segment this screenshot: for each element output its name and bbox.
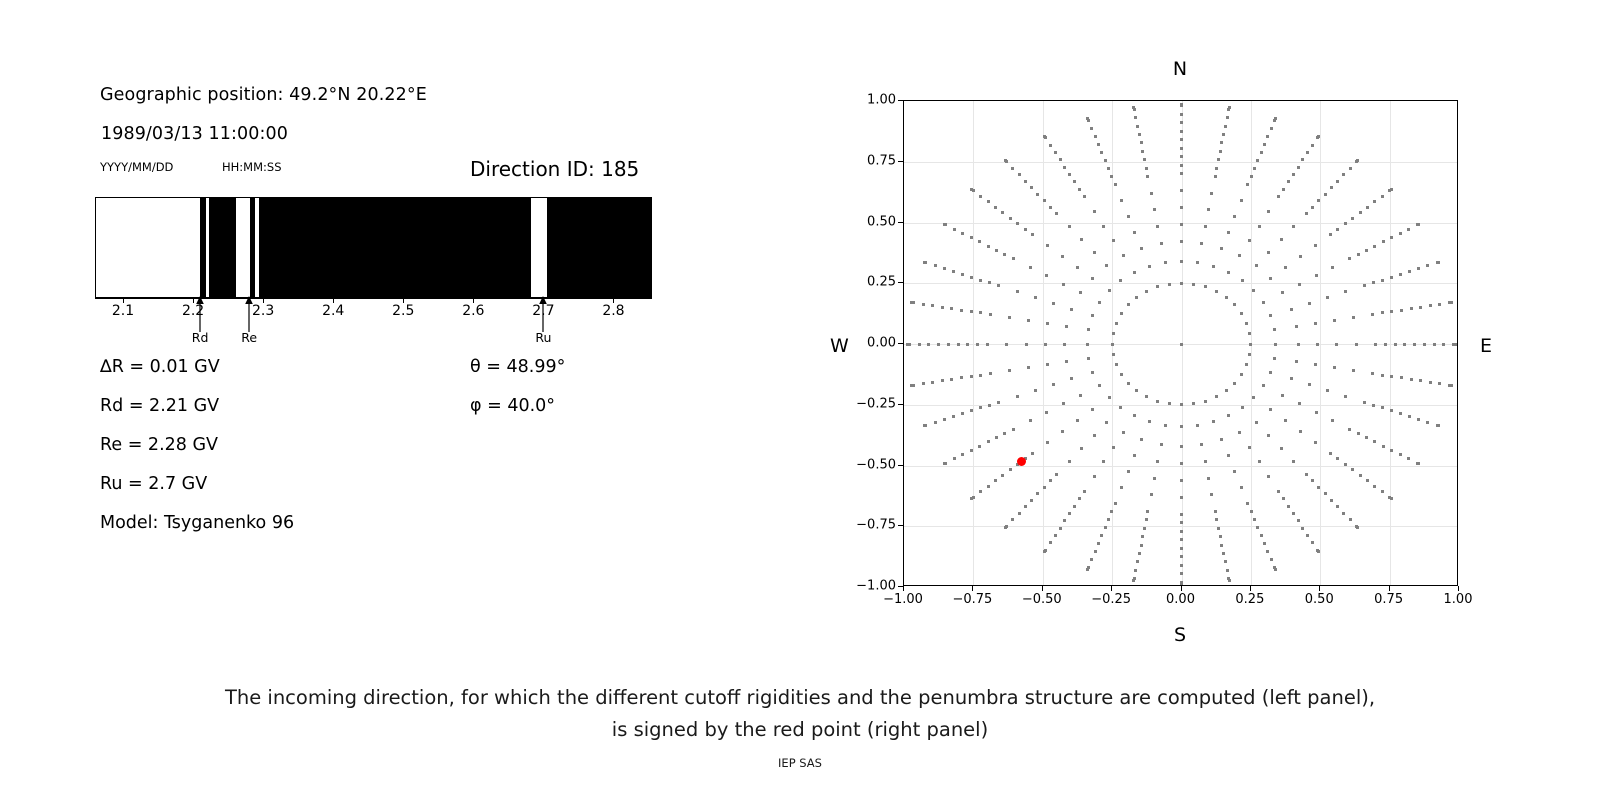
sky-direction-dot <box>1068 512 1071 515</box>
sky-direction-dot <box>1238 431 1241 434</box>
sky-direction-dot <box>1308 383 1311 386</box>
sky-direction-dot <box>1336 505 1339 508</box>
sky-direction-dot <box>1267 251 1270 254</box>
sky-direction-dot <box>1248 353 1251 356</box>
sky-direction-dot <box>1180 555 1183 558</box>
sky-direction-dot <box>1287 505 1290 508</box>
sky-direction-dot <box>1059 527 1062 530</box>
sky-direction-dot <box>988 404 991 407</box>
sky-direction-dot <box>1314 363 1317 366</box>
sky-direction-dot <box>1086 568 1089 571</box>
sky-direction-dot <box>1240 373 1243 376</box>
sky-direction-dot <box>1226 116 1229 119</box>
sky-direction-dot <box>1145 518 1148 521</box>
sky-direction-dot <box>1133 231 1136 234</box>
sky-direction-dot <box>961 453 964 456</box>
sky-direction-dot <box>1049 541 1052 544</box>
sky-direction-dot <box>961 232 964 235</box>
result-delta-r: ∆R = 0.01 GV <box>100 357 220 377</box>
sky-direction-dot <box>1150 493 1153 496</box>
datetime-text: 1989/03/13 11:00:00 <box>101 124 288 144</box>
sky-direction-dot <box>1146 510 1149 513</box>
sky-direction-dot <box>1215 395 1218 398</box>
sky-direction-dot <box>1297 343 1300 346</box>
sky-direction-dot <box>957 343 960 346</box>
sky-direction-dot <box>1262 301 1265 304</box>
sky-direction-dot <box>1315 274 1318 277</box>
sky-direction-dot <box>1274 117 1277 120</box>
sky-direction-dot <box>1094 550 1097 553</box>
sky-direction-dot <box>979 195 982 198</box>
sky-x-tick-label: −1.00 <box>883 592 923 607</box>
sky-direction-dot <box>1324 193 1327 196</box>
sky-direction-dot <box>1390 310 1393 313</box>
sky-direction-dot <box>1078 497 1081 500</box>
sky-direction-dot <box>1390 236 1393 239</box>
sky-direction-dot <box>1326 389 1329 392</box>
sky-direction-dot <box>1373 200 1376 203</box>
sky-direction-dot <box>1061 430 1064 433</box>
sky-direction-dot <box>1363 401 1366 404</box>
sky-direction-dot <box>1003 432 1006 435</box>
sky-direction-dot <box>1292 512 1295 515</box>
sky-direction-dot <box>1298 402 1301 405</box>
sky-y-tick <box>898 222 903 223</box>
penumbra-marker-label-ru: Ru <box>535 330 551 345</box>
credit-label: IEP SAS <box>0 756 1600 770</box>
sky-direction-dot <box>1317 199 1320 202</box>
sky-direction-dot <box>1390 497 1393 500</box>
sky-x-tick <box>1250 586 1251 591</box>
sky-direction-dot <box>1122 254 1125 257</box>
sky-direction-dot <box>1342 173 1345 176</box>
sky-direction-dot <box>1049 206 1052 209</box>
sky-direction-dot <box>1156 285 1159 288</box>
sky-direction-dot <box>1212 420 1215 423</box>
sky-direction-dot <box>1012 428 1015 431</box>
sky-direction-dot <box>1352 316 1355 319</box>
sky-direction-dot <box>997 401 1000 404</box>
sky-direction-dot <box>987 440 990 443</box>
sky-direction-dot <box>1107 518 1110 521</box>
sky-direction-dot <box>1145 167 1148 170</box>
sky-direction-dot <box>1227 414 1230 417</box>
sky-direction-dot <box>1280 238 1283 241</box>
sky-direction-dot <box>1080 238 1083 241</box>
sky-direction-dot <box>1043 199 1046 202</box>
sky-direction-dot <box>1269 314 1272 317</box>
sky-direction-dot <box>1269 371 1272 374</box>
sky-direction-dot <box>1133 414 1136 417</box>
sky-direction-dot <box>1180 206 1183 209</box>
sky-direction-dot <box>1031 233 1034 236</box>
sky-direction-dot <box>1273 357 1276 360</box>
sky-direction-dot <box>1220 438 1223 441</box>
sky-direction-dot <box>1270 558 1273 561</box>
sky-direction-dot <box>1059 158 1062 161</box>
angle-phi: φ = 40.0° <box>470 396 555 416</box>
sky-direction-dot <box>1133 271 1136 274</box>
sky-direction-dot <box>1180 282 1183 285</box>
sky-direction-dot <box>1336 180 1339 183</box>
sky-direction-dot <box>1091 277 1094 280</box>
sky-direction-dot <box>1063 519 1066 522</box>
sky-direction-dot <box>1255 264 1258 267</box>
sky-direction-dot <box>1267 475 1270 478</box>
result-rd: Rd = 2.21 GV <box>100 396 219 416</box>
sky-direction-dot <box>943 223 946 226</box>
sky-direction-dot <box>1135 389 1138 392</box>
sky-direction-dot <box>987 245 990 248</box>
sky-direction-dot <box>1138 552 1141 555</box>
sky-direction-dot <box>979 374 982 377</box>
sky-direction-dot <box>1145 290 1148 293</box>
sky-direction-dot <box>943 267 946 270</box>
sky-direction-dot <box>1233 470 1236 473</box>
sky-direction-dot <box>1351 468 1354 471</box>
sky-direction-dot <box>934 264 937 267</box>
sky-direction-dot <box>1180 130 1183 133</box>
sky-direction-dot <box>922 303 925 306</box>
sky-direction-dot <box>988 281 991 284</box>
sky-direction-dot <box>1442 343 1445 346</box>
sky-direction-dot <box>1093 475 1096 478</box>
sky-direction-dot <box>1373 245 1376 248</box>
penumbra-axis-tick-label: 2.8 <box>602 303 624 319</box>
sky-direction-dot <box>1292 225 1295 228</box>
sky-direction-dot <box>1180 147 1183 150</box>
sky-direction-dot <box>1207 208 1210 211</box>
sky-direction-dot <box>1108 396 1111 399</box>
sky-gridline-horizontal <box>904 466 1457 467</box>
sky-direction-dot <box>1204 225 1207 228</box>
sky-direction-dot <box>1219 150 1222 153</box>
sky-direction-dot <box>1381 406 1384 409</box>
sky-direction-dot <box>1091 371 1094 374</box>
sky-y-tick-label: 0.00 <box>867 336 896 351</box>
sky-direction-dot <box>1381 311 1384 314</box>
sky-direction-dot <box>1357 253 1360 256</box>
sky-direction-dot <box>1253 518 1256 521</box>
sky-direction-dot <box>1180 513 1183 516</box>
sky-direction-dot <box>960 309 963 312</box>
sky-direction-dot <box>1068 173 1071 176</box>
sky-direction-dot <box>1417 462 1420 465</box>
sky-direction-dot <box>1112 332 1115 335</box>
sky-direction-dot <box>937 343 940 346</box>
sky-direction-dot <box>1122 431 1125 434</box>
sky-direction-dot <box>1417 267 1420 270</box>
sky-direction-dot <box>1400 309 1403 312</box>
sky-direction-dot <box>1253 167 1256 170</box>
sky-direction-dot <box>952 270 955 273</box>
sky-direction-dot <box>961 273 964 276</box>
sky-direction-dot <box>995 436 998 439</box>
sky-direction-dot <box>1133 454 1136 457</box>
sky-direction-dot <box>1045 411 1048 414</box>
sky-direction-dot <box>1156 460 1159 463</box>
sky-direction-dot <box>1090 558 1093 561</box>
sky-direction-dot <box>950 307 953 310</box>
penumbra-axis-tick-label: 2.3 <box>252 303 274 319</box>
sky-direction-dot <box>1079 394 1082 397</box>
penumbra-axis-tick-label: 2.2 <box>182 303 204 319</box>
sky-direction-dot <box>979 279 982 282</box>
sky-direction-dot <box>941 306 944 309</box>
sky-direction-dot <box>1145 395 1148 398</box>
penumbra-axis-line <box>95 298 652 299</box>
sky-direction-dot <box>1282 188 1285 191</box>
sky-direction-dot <box>1344 222 1347 225</box>
sky-direction-dot <box>1317 550 1320 553</box>
sky-direction-dot <box>970 276 973 279</box>
sky-direction-dot <box>960 376 963 379</box>
sky-direction-dot <box>1248 239 1251 242</box>
sky-direction-dot <box>953 228 956 231</box>
sky-direction-dot <box>1105 421 1108 424</box>
sky-direction-dot <box>1450 384 1453 387</box>
sky-direction-dot <box>1196 261 1199 264</box>
sky-direction-dot <box>1180 521 1183 524</box>
sky-direction-dot <box>931 381 934 384</box>
sky-direction-dot <box>1281 291 1284 294</box>
sky-direction-dot <box>1141 535 1144 538</box>
sky-direction-dot <box>943 418 946 421</box>
direction-id-label: Direction ID: 185 <box>470 157 639 181</box>
sky-plot-area[interactable] <box>903 100 1458 586</box>
sky-direction-dot <box>1180 479 1183 482</box>
sky-direction-dot <box>1220 247 1223 250</box>
sky-direction-dot <box>1052 302 1055 305</box>
sky-direction-dot <box>1093 434 1096 437</box>
sky-direction-dot <box>1359 211 1362 214</box>
sky-direction-dot <box>1087 328 1090 331</box>
sky-direction-dot <box>1079 291 1082 294</box>
sky-direction-dot <box>1076 419 1079 422</box>
time-format-hint: HH:MM:SS <box>222 160 282 174</box>
sky-direction-dot <box>1222 133 1225 136</box>
sky-direction-dot <box>1454 343 1457 346</box>
sky-direction-dot <box>1373 485 1376 488</box>
sky-direction-dot <box>1329 233 1332 236</box>
penumbra-forbidden-band <box>259 198 531 297</box>
sky-direction-dot <box>1363 284 1366 287</box>
sky-direction-dot <box>1100 534 1103 537</box>
sky-direction-dot <box>994 479 997 482</box>
sky-direction-dot <box>1292 173 1295 176</box>
sky-direction-dot <box>1240 486 1243 489</box>
sky-direction-dot <box>976 343 979 346</box>
sky-direction-dot <box>1281 394 1284 397</box>
sky-direction-dot <box>970 236 973 239</box>
sky-direction-dot <box>1027 366 1030 369</box>
sky-direction-dot <box>1250 175 1253 178</box>
sky-y-tick <box>898 161 903 162</box>
sky-direction-dot <box>1215 167 1218 170</box>
sky-direction-dot <box>1138 133 1141 136</box>
sky-gridline-horizontal <box>904 526 1457 527</box>
sky-direction-dot <box>952 415 955 418</box>
sky-direction-dot <box>1180 155 1183 158</box>
penumbra-bar <box>95 197 652 298</box>
sky-direction-dot <box>1008 369 1011 372</box>
sky-direction-dot <box>1114 183 1117 186</box>
sky-direction-dot <box>1336 457 1339 460</box>
sky-direction-dot <box>1266 135 1269 138</box>
sky-direction-dot <box>1407 457 1410 460</box>
penumbra-axis-tick-label: 2.6 <box>462 303 484 319</box>
sky-direction-dot <box>1164 424 1167 427</box>
sky-direction-dot <box>1225 296 1228 299</box>
sky-direction-dot <box>1112 239 1115 242</box>
sky-direction-dot <box>1045 274 1048 277</box>
sky-direction-dot <box>1408 415 1411 418</box>
sky-direction-dot <box>1073 180 1076 183</box>
sky-direction-dot <box>1102 225 1105 228</box>
sky-direction-dot <box>1224 560 1227 563</box>
sky-plot-panel: N S W E −1.00−1.00−0.75−0.75−0.50−0.50−0… <box>800 0 1600 660</box>
sky-direction-dot <box>953 457 956 460</box>
sky-direction-dot <box>1227 231 1230 234</box>
sky-direction-dot <box>1344 463 1347 466</box>
sky-direction-dot <box>997 284 1000 287</box>
sky-direction-dot <box>1061 255 1064 258</box>
sky-direction-dot <box>1290 377 1293 380</box>
sky-direction-dot <box>1316 343 1319 346</box>
sky-direction-dot <box>1348 428 1351 431</box>
sky-direction-dot <box>1267 210 1270 213</box>
sky-direction-dot <box>1299 430 1302 433</box>
sky-direction-dot <box>1256 526 1259 529</box>
sky-direction-dot <box>1233 382 1236 385</box>
sky-direction-dot <box>989 313 992 316</box>
sky-direction-dot <box>1180 172 1183 175</box>
sky-direction-dot <box>1115 363 1118 366</box>
sky-direction-dot <box>1333 366 1336 369</box>
sky-direction-dot <box>1400 376 1403 379</box>
sky-direction-dot <box>1062 283 1065 286</box>
sky-direction-dot <box>1336 228 1339 231</box>
sky-direction-dot <box>1134 569 1137 572</box>
sky-direction-dot <box>1365 436 1368 439</box>
sky-y-tick <box>898 525 903 526</box>
sky-direction-dot <box>1419 379 1422 382</box>
sky-direction-dot <box>1315 411 1318 414</box>
sky-direction-dot <box>1009 217 1012 220</box>
sky-x-tick-label: −0.50 <box>1022 592 1062 607</box>
sky-gridline-horizontal <box>904 162 1457 163</box>
sky-direction-dot <box>1306 534 1309 537</box>
sky-direction-dot <box>1005 343 1008 346</box>
sky-direction-dot <box>1055 212 1058 215</box>
sky-direction-dot <box>1277 195 1280 198</box>
sky-direction-dot <box>1381 195 1384 198</box>
sky-direction-dot <box>1270 127 1273 130</box>
sky-direction-dot <box>1311 144 1314 147</box>
sky-direction-dot <box>1068 460 1071 463</box>
sky-direction-dot <box>1093 251 1096 254</box>
penumbra-forbidden-band <box>209 198 236 297</box>
sky-direction-dot <box>1399 412 1402 415</box>
sky-direction-dot <box>1120 373 1123 376</box>
sky-direction-dot <box>1029 266 1032 269</box>
sky-direction-dot <box>1204 460 1207 463</box>
sky-direction-dot <box>970 497 973 500</box>
result-model: Model: Tsyganenko 96 <box>100 513 294 533</box>
sky-direction-dot <box>1429 304 1432 307</box>
sky-direction-dot <box>1262 384 1265 387</box>
sky-direction-dot <box>1180 564 1183 567</box>
sky-direction-dot <box>1043 550 1046 553</box>
sky-direction-dot <box>1246 502 1249 505</box>
sky-direction-dot <box>1219 535 1222 538</box>
sky-direction-dot <box>1052 383 1055 386</box>
sky-direction-dot <box>1227 271 1230 274</box>
sky-direction-dot <box>1438 303 1441 306</box>
sky-direction-dot <box>1269 277 1272 280</box>
sky-direction-dot <box>1330 499 1333 502</box>
sky-direction-dot <box>1399 273 1402 276</box>
sky-direction-dot <box>1049 479 1052 482</box>
sky-direction-dot <box>1016 395 1019 398</box>
sky-direction-dot <box>1390 409 1393 412</box>
sky-direction-dot <box>1329 452 1332 455</box>
sky-y-tick <box>898 586 903 587</box>
sky-direction-dot <box>1141 150 1144 153</box>
sky-direction-dot <box>1134 116 1137 119</box>
sky-direction-dot <box>1249 343 1252 346</box>
selected-direction-point[interactable] <box>1017 457 1026 466</box>
sky-direction-dot <box>1277 490 1280 493</box>
sky-direction-dot <box>994 206 997 209</box>
sky-direction-dot <box>979 490 982 493</box>
sky-direction-dot <box>1143 158 1146 161</box>
sky-direction-dot <box>1333 319 1336 322</box>
sky-direction-dot <box>1091 408 1094 411</box>
penumbra-axis-tick-label: 2.4 <box>322 303 344 319</box>
sky-direction-dot <box>1352 369 1355 372</box>
sky-direction-dot <box>1168 402 1171 405</box>
sky-direction-dot <box>1217 158 1220 161</box>
sky-direction-dot <box>979 406 982 409</box>
sky-direction-dot <box>1204 285 1207 288</box>
sky-x-tick <box>1458 586 1459 591</box>
sky-direction-dot <box>1140 438 1143 441</box>
sky-direction-dot <box>1063 166 1066 169</box>
compass-east-label: E <box>1480 335 1492 357</box>
sky-direction-dot <box>1212 265 1215 268</box>
sky-direction-dot <box>1105 264 1108 267</box>
sky-direction-dot <box>941 379 944 382</box>
sky-direction-dot <box>1240 312 1243 315</box>
sky-direction-dot <box>1228 579 1231 582</box>
sky-direction-dot <box>1365 249 1368 252</box>
sky-direction-dot <box>1423 343 1426 346</box>
sky-direction-dot <box>1073 505 1076 508</box>
sky-direction-dot <box>1233 215 1236 218</box>
sky-direction-dot <box>1119 406 1122 409</box>
sky-direction-dot <box>1399 453 1402 456</box>
sky-direction-dot <box>1348 257 1351 260</box>
sky-direction-dot <box>1143 527 1146 530</box>
sky-direction-dot <box>1153 477 1156 480</box>
sky-direction-dot <box>961 412 964 415</box>
sky-direction-dot <box>1284 266 1287 269</box>
sky-direction-dot <box>1009 468 1012 471</box>
sky-direction-dot <box>1192 402 1195 405</box>
sky-direction-dot <box>1437 424 1440 427</box>
sky-direction-dot <box>1248 332 1251 335</box>
